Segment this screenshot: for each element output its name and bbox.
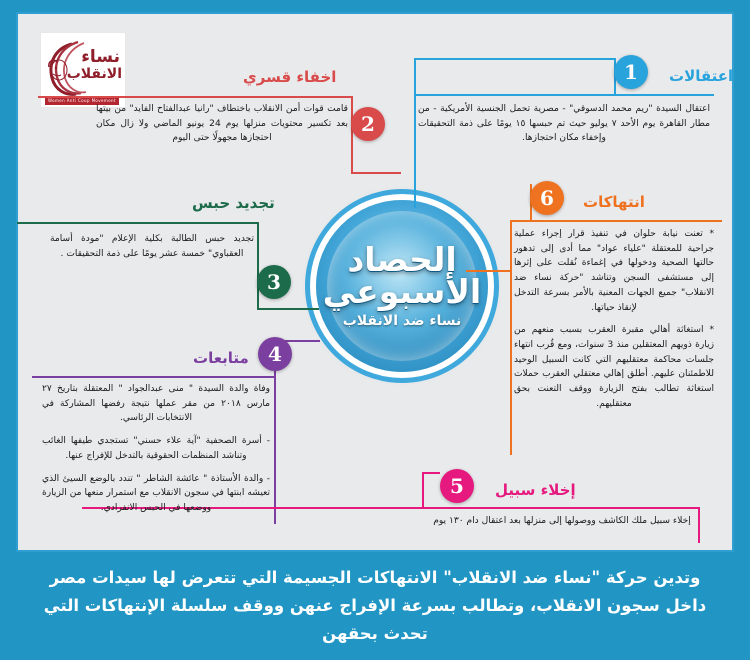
logo-artwork: نساء الانقلاب <box>42 40 124 100</box>
section-badge-1: 1 <box>614 55 648 89</box>
center-title-line2: الأسبوعي <box>323 275 481 309</box>
section-title-1: اعتقالات <box>669 67 733 85</box>
section-3-paragraph-1: تجديد حبس الطالبة بكلية الإعلام "مودة أس… <box>50 232 254 261</box>
section-badge-6: 6 <box>530 181 564 215</box>
section-rule-6 <box>510 220 722 222</box>
section-body-3: تجديد حبس الطالبة بكلية الإعلام "مودة أس… <box>50 232 254 261</box>
section-badge-4: 4 <box>258 337 292 371</box>
logo-word-bottom: الانقلاب <box>67 67 122 81</box>
connector-5-right <box>698 507 700 543</box>
connector-6-to-center <box>466 270 512 272</box>
section-title-2: اخفاء قسري <box>243 68 336 86</box>
section-title-6: انتهاكات <box>583 193 645 211</box>
logo-word-top: نساء <box>81 49 120 66</box>
section-vline-5 <box>422 472 424 507</box>
section-title-3: تجديد حبس <box>192 194 275 212</box>
footer-banner: وتدين حركة "نساء ضد الانقلاب" الانتهاكات… <box>0 552 750 660</box>
connector-1-horizontal <box>414 58 614 60</box>
section-5-paragraph-1: إخلاء سبيل ملك الكاشف ووصولها إلى منزلها… <box>426 514 698 529</box>
section-body-1: اعتقال السيدة "ريم محمد الدسوقي" - مصرية… <box>418 102 710 146</box>
connector-2-to-center <box>351 146 353 174</box>
section-rule-2 <box>38 96 353 98</box>
section-title-5: إخلاء سبيل <box>495 481 576 499</box>
section-4-paragraph-2: - أسرة الصحفية "آية علاء حسني" تستجدي طي… <box>42 434 270 463</box>
section-badge-2: 2 <box>351 107 385 141</box>
connector-4-long <box>274 376 276 524</box>
section-body-6: * تعنت نيابة حلوان في تنفيذ قرار إجراء ع… <box>514 227 714 412</box>
section-body-4: وفاة والدة السيدة " منى عبدالجواد " المع… <box>42 382 270 516</box>
connector-5-top <box>422 472 440 474</box>
section-rule-1 <box>414 94 714 96</box>
section-6-paragraph-1: * تعنت نيابة حلوان في تنفيذ قرار إجراء ع… <box>514 227 714 315</box>
infographic-root: نساء الانقلاب Women Anti Coup Movement 2… <box>0 0 750 660</box>
section-6-paragraph-2: * استغاثة أهالي مقبرة العقرب بسبب منعهم … <box>514 323 714 411</box>
center-subtitle: نساء ضد الانقلاب <box>343 313 462 329</box>
section-vline-3 <box>257 222 259 310</box>
section-2-paragraph-1: قامت قوات أمن الانقلاب باختطاف "رانيا عب… <box>96 102 348 146</box>
center-emblem: الحصاد الأسبوعي نساء ضد الانقلاب <box>316 200 488 372</box>
connector-2-horizontal <box>351 172 401 174</box>
section-badge-3: 3 <box>257 265 291 299</box>
center-inner: الحصاد الأسبوعي نساء ضد الانقلاب <box>327 211 477 361</box>
connector-6-long <box>510 220 512 455</box>
content-panel: نساء الانقلاب Women Anti Coup Movement 2… <box>16 12 734 552</box>
section-4-paragraph-1: وفاة والدة السيدة " منى عبدالجواد " المع… <box>42 382 270 426</box>
section-1-paragraph-1: اعتقال السيدة "ريم محمد الدسوقي" - مصرية… <box>418 102 710 146</box>
section-title-4: متابعات <box>193 349 249 367</box>
section-rule-4 <box>32 376 274 378</box>
footer-text: وتدين حركة "نساء ضد الانقلاب" الانتهاكات… <box>34 564 716 647</box>
section-rule-3 <box>17 222 259 224</box>
section-body-5: إخلاء سبيل ملك الكاشف ووصولها إلى منزلها… <box>426 514 698 529</box>
section-4-paragraph-3: - والدة الأستاذة " عائشة الشاطر " تندد ب… <box>42 472 270 516</box>
section-body-2: قامت قوات أمن الانقلاب باختطاف "رانيا عب… <box>96 102 348 146</box>
connector-3-to-center <box>257 308 319 310</box>
section-badge-5: 5 <box>440 469 474 503</box>
connector-1-to-center <box>414 58 416 208</box>
